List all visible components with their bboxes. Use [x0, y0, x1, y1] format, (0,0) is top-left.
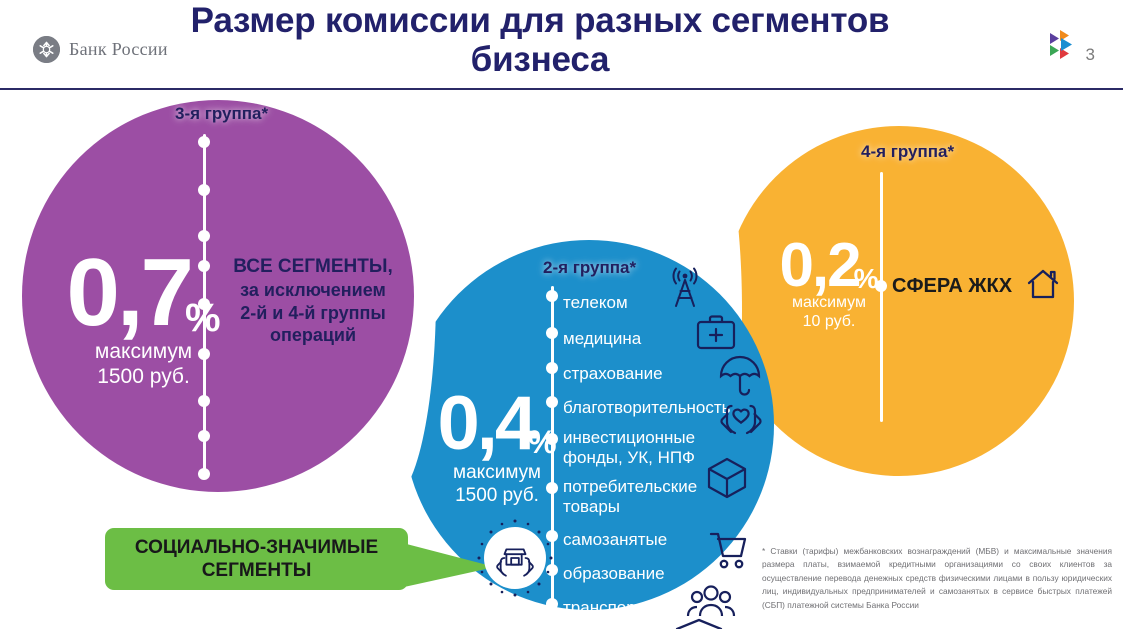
axis-dot: [198, 395, 210, 407]
bank-of-russia-emblem-icon: [33, 36, 60, 63]
group-4-tag: 4-я группа*: [861, 142, 954, 162]
group-3-desc-line3: 2-й и 4-й группы: [218, 302, 408, 325]
callout-text: СОЦИАЛЬНО-ЗНАЧИМЫЕ СЕГМЕНТЫ: [135, 536, 378, 582]
group-3-desc-line2: за исключением: [218, 279, 408, 302]
group-4-label: СФЕРА ЖКХ: [892, 275, 1012, 298]
hands-holding-shop-icon: [484, 527, 546, 589]
cube-icon: [706, 456, 748, 505]
group-2-rate: 0,4% максимум 1500 руб.: [422, 390, 572, 507]
group-3-desc-line1: ВСЕ СЕГМЕНТЫ,: [218, 255, 408, 279]
group-3-max-line2: 1500 руб.: [36, 365, 251, 390]
group-2-rate-value: 0,4: [437, 390, 534, 458]
list-item: образование: [563, 564, 665, 583]
group-2-rate-percent: %: [528, 428, 556, 457]
callout-line2: СЕГМЕНТЫ: [135, 559, 378, 582]
list-item: транспорт: [563, 598, 643, 617]
group-4-max-line2: 10 руб.: [758, 313, 900, 332]
house-icon: [1026, 268, 1060, 305]
slide-header: Банк России Размер комиссии для разных с…: [0, 0, 1123, 88]
group-3-desc-line4: операций: [218, 324, 408, 347]
axis-dot: [546, 362, 558, 374]
header-divider: [0, 88, 1123, 90]
group-3-rate-value: 0,7: [66, 250, 190, 336]
list-item: страхование: [563, 364, 663, 383]
axis-dot: [198, 468, 210, 480]
list-item: самозанятые: [563, 530, 667, 549]
shopping-cart-icon: [705, 530, 749, 577]
group-2-max-line2: 1500 руб.: [422, 485, 572, 507]
axis-dot: [546, 598, 558, 610]
antenna-tower-icon: [665, 266, 705, 315]
group-3-tag: 3-я группа*: [175, 104, 268, 124]
page-marker: 3: [1046, 27, 1095, 66]
group-4-label-wrap: СФЕРА ЖКХ: [892, 268, 1060, 305]
list-item: медицина: [563, 329, 641, 348]
graduation-cap-icon: [674, 615, 724, 629]
group-4-rate: 0,2% максимум 10 руб.: [758, 238, 900, 332]
axis-dot: [198, 136, 210, 148]
group-4-rate-value: 0,2: [779, 238, 859, 294]
group-2-tag: 2-я группа*: [543, 258, 636, 278]
group-4-rate-percent: %: [854, 266, 879, 291]
list-item: благотворительность: [563, 398, 731, 417]
group-3-rate-percent: %: [185, 300, 221, 336]
bank-of-russia-logo-text: Банк России: [69, 39, 168, 60]
footnote: * Ставки (тарифы) межбанковских вознагра…: [762, 545, 1112, 612]
hands-heart-icon: [718, 392, 764, 443]
slide-root: Банк России Размер комиссии для разных с…: [0, 0, 1123, 629]
callout-line1: СОЦИАЛЬНО-ЗНАЧИМЫЕ: [135, 536, 378, 559]
axis-dot: [198, 230, 210, 242]
bank-of-russia-logo: Банк России: [33, 36, 168, 63]
page-number: 3: [1086, 46, 1095, 66]
sbp-triangles-icon: [1046, 27, 1080, 66]
axis-dot: [546, 290, 558, 302]
axis-dot: [198, 430, 210, 442]
social-segments-callout[interactable]: СОЦИАЛЬНО-ЗНАЧИМЫЕ СЕГМЕНТЫ: [105, 528, 408, 590]
axis-dot: [198, 184, 210, 196]
page-title: Размер комиссии для разных сегментов биз…: [190, 2, 890, 79]
infographic-canvas: 3-я группа* 0,7% максимум 1500 руб. ВСЕ …: [0, 90, 1123, 629]
group-3-description: ВСЕ СЕГМЕНТЫ, за исключением 2-й и 4-й г…: [218, 255, 408, 347]
list-item: телеком: [563, 293, 628, 312]
medical-briefcase-icon: [695, 312, 737, 357]
axis-dot: [546, 327, 558, 339]
